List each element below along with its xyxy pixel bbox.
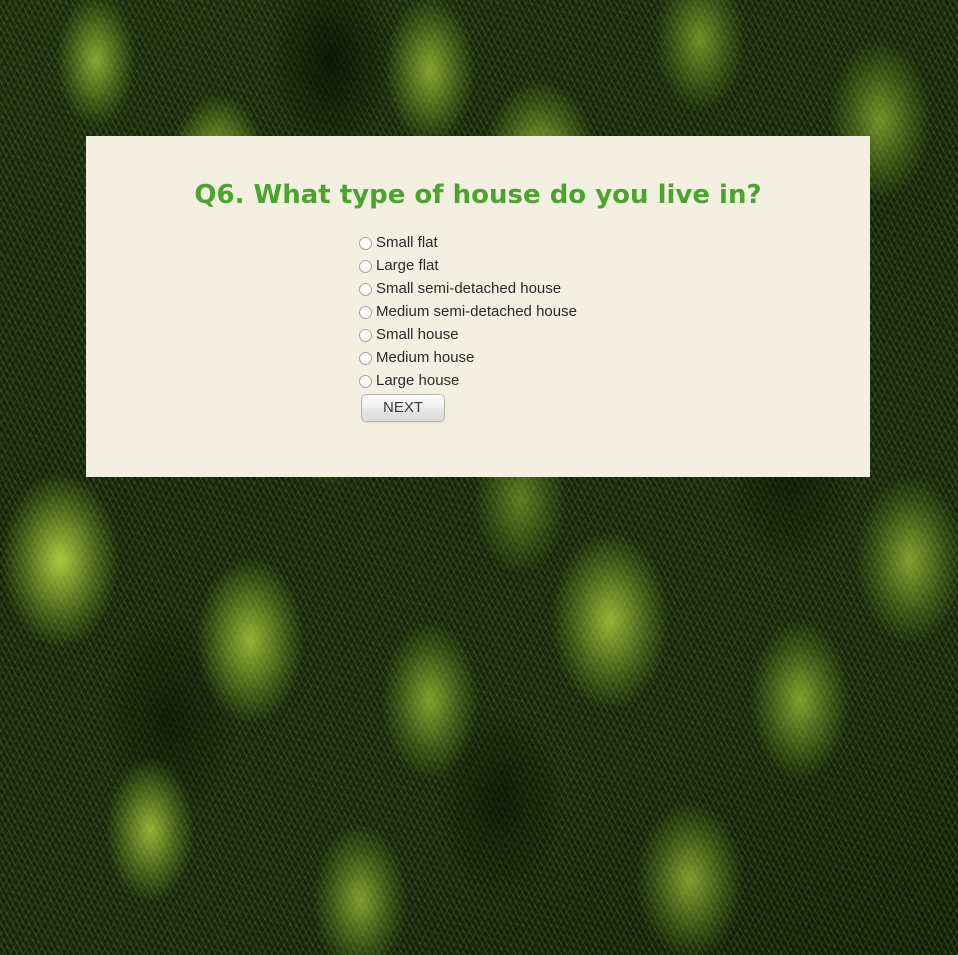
option-row-small-house[interactable]: Small house: [359, 324, 870, 347]
option-label-medium-house: Medium house: [376, 349, 474, 367]
option-label-medium-semi-detached-house: Medium semi-detached house: [376, 303, 577, 321]
radio-small-house[interactable]: [359, 329, 372, 342]
radio-small-semi-detached-house[interactable]: [359, 283, 372, 296]
option-row-large-house[interactable]: Large house: [359, 370, 870, 393]
option-row-small-flat[interactable]: Small flat: [359, 232, 870, 255]
option-row-medium-semi-detached-house[interactable]: Medium semi-detached house: [359, 301, 870, 324]
radio-small-flat[interactable]: [359, 237, 372, 250]
radio-large-flat[interactable]: [359, 260, 372, 273]
survey-card: Q6. What type of house do you live in? S…: [86, 136, 870, 477]
option-label-large-house: Large house: [376, 372, 459, 390]
radio-medium-house[interactable]: [359, 352, 372, 365]
option-row-small-semi-detached-house[interactable]: Small semi-detached house: [359, 278, 870, 301]
radio-medium-semi-detached-house[interactable]: [359, 306, 372, 319]
house-type-radio-group: Small flat Large flat Small semi-detache…: [86, 232, 870, 422]
option-row-medium-house[interactable]: Medium house: [359, 347, 870, 370]
option-label-small-house: Small house: [376, 326, 459, 344]
next-button[interactable]: NEXT: [361, 394, 445, 422]
option-label-small-semi-detached-house: Small semi-detached house: [376, 280, 561, 298]
radio-large-house[interactable]: [359, 375, 372, 388]
page-root: Q6. What type of house do you live in? S…: [0, 0, 958, 955]
option-label-large-flat: Large flat: [376, 257, 439, 275]
option-row-large-flat[interactable]: Large flat: [359, 255, 870, 278]
page-title: Q6. What type of house do you live in?: [86, 136, 870, 211]
option-label-small-flat: Small flat: [376, 234, 438, 252]
